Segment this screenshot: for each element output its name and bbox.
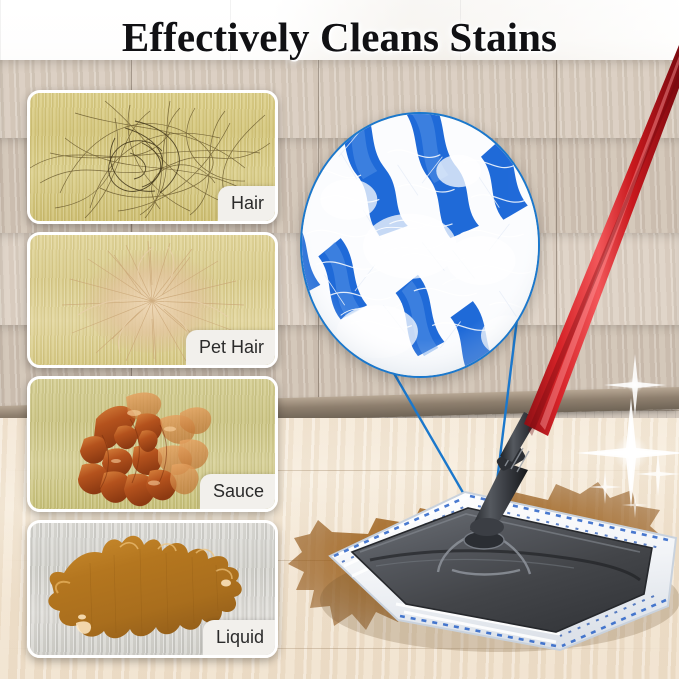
mop-product <box>0 0 679 679</box>
product-marketing-image: Effectively Cleans Stains <box>0 0 679 679</box>
mop-handle <box>524 45 679 436</box>
